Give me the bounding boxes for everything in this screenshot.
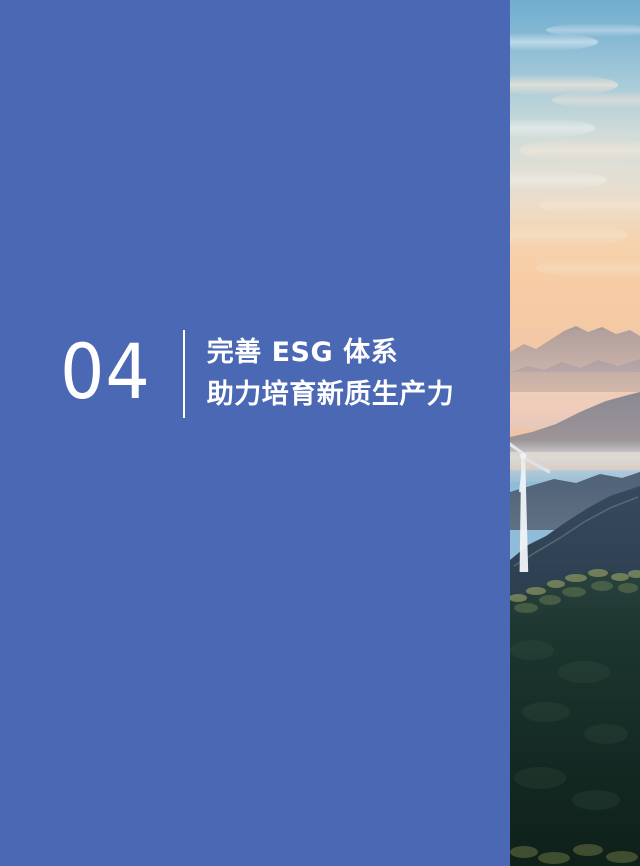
wind-turbine-photo — [510, 0, 640, 866]
vertical-divider-rule — [183, 330, 185, 418]
wind-turbine-photo-illustration — [510, 0, 640, 866]
section-divider-slide: 04 完善 ESG 体系 助力培育新质生产力 — [0, 0, 640, 866]
section-heading-block: 04 完善 ESG 体系 助力培育新质生产力 — [60, 318, 454, 430]
section-title-line-2: 助力培育新质生产力 — [207, 374, 455, 416]
blue-background-panel — [0, 0, 510, 866]
section-title-line-1: 完善 ESG 体系 — [207, 332, 455, 374]
section-title-group: 完善 ESG 体系 助力培育新质生产力 — [207, 332, 455, 416]
section-number: 04 — [60, 334, 151, 414]
